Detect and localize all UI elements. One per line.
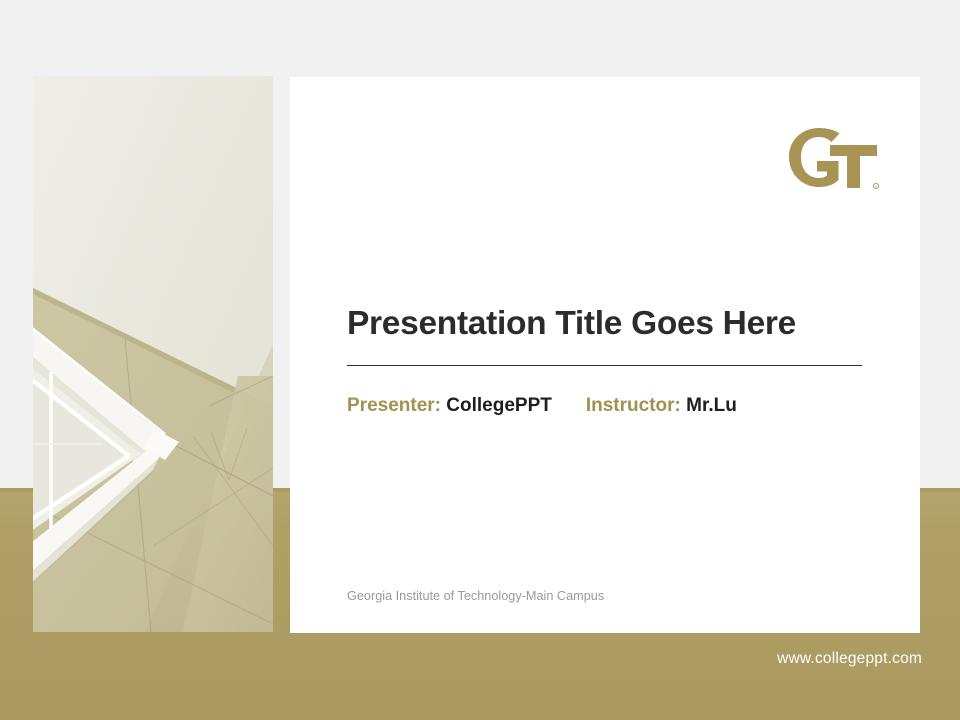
presentation-slide: www.collegeppt.com R Presentation Title … [0, 0, 960, 720]
institution-footer: Georgia Institute of Technology-Main Cam… [347, 589, 604, 603]
georgia-tech-gt-logo: R [782, 125, 886, 191]
website-url[interactable]: www.collegeppt.com [777, 650, 922, 668]
presenter-value: CollegePPT [446, 395, 552, 416]
page-title: Presentation Title Goes Here [347, 305, 877, 343]
slide-card: R Presentation Title Goes Here Presenter… [290, 77, 920, 633]
byline: Presenter: CollegePPTInstructor: Mr.Lu [347, 395, 737, 417]
instructor-value: Mr.Lu [686, 395, 737, 416]
instructor-label: Instructor: [586, 395, 681, 416]
architectural-ceiling-photo [33, 76, 273, 632]
title-divider [347, 365, 862, 366]
presenter-label: Presenter: [347, 395, 441, 416]
